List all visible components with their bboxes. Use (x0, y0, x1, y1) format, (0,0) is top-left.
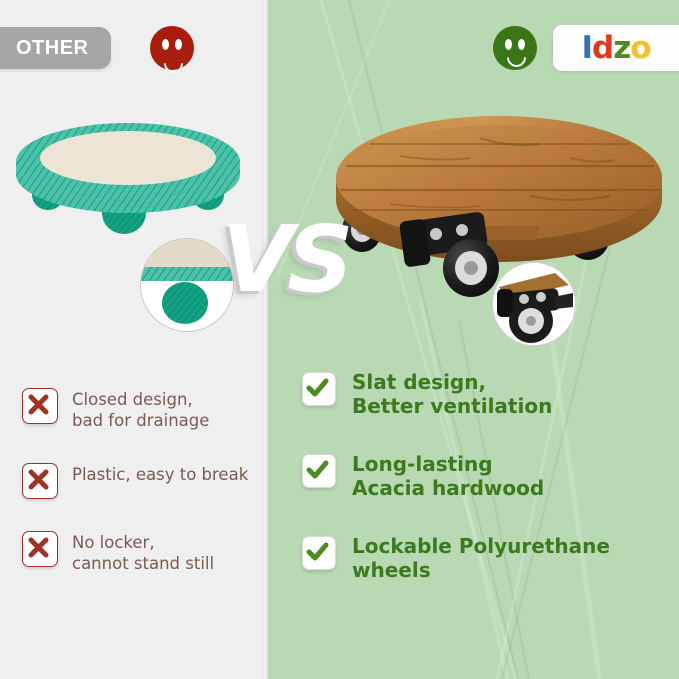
sad-face-icon (150, 26, 194, 70)
list-item: No locker, cannot stand still (22, 531, 262, 574)
list-item: Slat design, Better ventilation (302, 370, 674, 418)
logo-letter-i: I (581, 33, 592, 64)
right-feature-list: Slat design, Better ventilation Long-las… (302, 370, 674, 616)
plastic-plant-saucer-illustration (12, 118, 252, 243)
right-feature-text-2: Long-lasting Acacia hardwood (352, 452, 544, 500)
sad-eye-left (162, 39, 169, 50)
happy-face-icon (493, 26, 537, 70)
right-feature-text-1: Slat design, Better ventilation (352, 370, 552, 418)
left-feature-list: Closed design, bad for drainage Plastic,… (22, 388, 262, 606)
other-badge: OTHER (0, 27, 111, 69)
list-item: Closed design, bad for drainage (22, 388, 262, 431)
left-feature-text-3: No locker, cannot stand still (72, 531, 214, 574)
cross-icon (22, 531, 58, 567)
list-item: Lockable Polyurethane wheels (302, 534, 674, 582)
brand-logo: Idzo (553, 25, 679, 71)
left-feature-text-1: Closed design, bad for drainage (72, 388, 209, 431)
logo-letter-o: o (630, 33, 650, 64)
right-feature-text-3: Lockable Polyurethane wheels (352, 534, 610, 582)
caster-front-locking (399, 211, 499, 297)
list-item: Plastic, easy to break (22, 463, 262, 499)
brand-logo-text: Idzo (581, 33, 650, 64)
logo-letter-z: z (613, 33, 630, 64)
comparison-infographic: OTHER Idzo (0, 0, 679, 679)
check-icon (302, 536, 336, 570)
check-icon (302, 454, 336, 488)
sad-eye-right (175, 39, 182, 50)
list-item: Long-lasting Acacia hardwood (302, 452, 674, 500)
vs-label: VS (222, 214, 347, 306)
locking-caster-detail-circle (492, 262, 576, 346)
cross-icon (22, 388, 58, 424)
cross-icon (22, 463, 58, 499)
plastic-foot-detail-circle (140, 238, 234, 332)
left-feature-text-2: Plastic, easy to break (72, 463, 248, 485)
logo-letter-d: d (592, 33, 613, 64)
check-icon (302, 372, 336, 406)
